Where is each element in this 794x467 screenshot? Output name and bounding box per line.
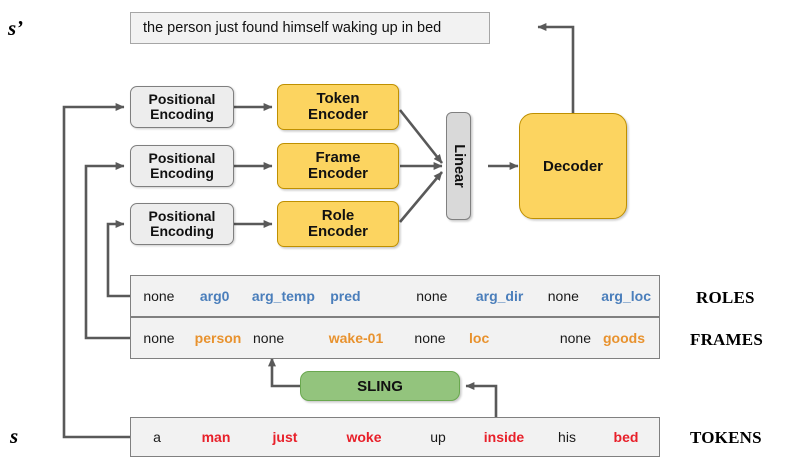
roles-cell-2: arg_temp xyxy=(243,288,325,304)
output-sentence-box: the person just found himself waking up … xyxy=(130,12,490,44)
frames-cell-6: none xyxy=(523,330,591,346)
linear-label: Linear xyxy=(451,144,467,188)
pe-token-line2: Encoding xyxy=(149,107,216,122)
caption-tokens: TOKENS xyxy=(690,428,762,448)
output-sentence-text: the person just found himself waking up … xyxy=(143,20,441,36)
wire-token-encoder-to-linear xyxy=(400,110,442,163)
pe-role-line2: Encoding xyxy=(149,224,216,239)
tokens-cell-7: bed xyxy=(595,429,657,445)
decoder-box[interactable]: Decoder xyxy=(519,113,627,219)
tokens-cell-6: his xyxy=(539,429,595,445)
sling-label: SLING xyxy=(357,378,403,395)
roles-cell-0: none xyxy=(131,288,187,304)
roles-cell-3: pred xyxy=(324,288,398,304)
token-encoder-box[interactable]: Token Encoder xyxy=(277,84,399,130)
pe-frame-line2: Encoding xyxy=(149,166,216,181)
frames-cell-7: goods xyxy=(591,330,657,346)
tokens-cell-1: man xyxy=(183,429,249,445)
pe-token-line1: Positional xyxy=(149,92,216,107)
decoder-label: Decoder xyxy=(543,158,603,175)
tokens-cell-3: woke xyxy=(321,429,407,445)
frame-encoder-line2: Encoder xyxy=(308,166,368,182)
frames-row: none person none wake-01 none loc none g… xyxy=(130,317,660,359)
roles-cell-5: arg_dir xyxy=(466,288,534,304)
tokens-cell-4: up xyxy=(407,429,469,445)
pe-frame-line1: Positional xyxy=(149,151,216,166)
tokens-cell-5: inside xyxy=(469,429,539,445)
frame-encoder-line1: Frame xyxy=(308,150,368,166)
sling-parser-box[interactable]: SLING xyxy=(300,371,460,401)
wire-roles-to-pe3 xyxy=(108,224,130,296)
token-encoder-line2: Encoder xyxy=(308,107,368,123)
output-sentence-marker: s’ xyxy=(8,16,23,41)
wire-tokens-to-pe1 xyxy=(64,107,130,437)
frames-cell-3: wake-01 xyxy=(313,330,399,346)
input-sentence-marker: s xyxy=(10,424,18,449)
positional-encoding-box-role[interactable]: Positional Encoding xyxy=(130,203,234,245)
frames-cell-0: none xyxy=(131,330,187,346)
architecture-diagram: s’ s the person just found himself wakin… xyxy=(0,0,794,467)
positional-encoding-box-frame[interactable]: Positional Encoding xyxy=(130,145,234,187)
frame-encoder-box[interactable]: Frame Encoder xyxy=(277,143,399,189)
wire-frames-to-pe2 xyxy=(86,166,130,338)
wire-tokens-to-sling xyxy=(466,386,496,418)
wire-decoder-to-output xyxy=(538,27,573,118)
tokens-row: a man just woke up inside his bed xyxy=(130,417,660,457)
caption-frames: FRAMES xyxy=(690,330,763,350)
role-encoder-line2: Encoder xyxy=(308,224,368,240)
caption-roles: ROLES xyxy=(696,288,755,308)
frames-cell-4: none xyxy=(399,330,461,346)
positional-encoding-box-token[interactable]: Positional Encoding xyxy=(130,86,234,128)
pe-role-line1: Positional xyxy=(149,209,216,224)
role-encoder-box[interactable]: Role Encoder xyxy=(277,201,399,247)
roles-cell-7: arg_loc xyxy=(593,288,659,304)
wire-role-encoder-to-linear xyxy=(400,172,442,222)
tokens-cell-0: a xyxy=(131,429,183,445)
frames-cell-2: none xyxy=(249,330,313,346)
token-encoder-line1: Token xyxy=(308,91,368,107)
roles-row: none arg0 arg_temp pred none arg_dir non… xyxy=(130,275,660,317)
frames-cell-1: person xyxy=(187,330,249,346)
roles-cell-1: arg0 xyxy=(187,288,243,304)
roles-cell-4: none xyxy=(398,288,466,304)
role-encoder-line1: Role xyxy=(308,208,368,224)
roles-cell-6: none xyxy=(533,288,593,304)
frames-cell-5: loc xyxy=(461,330,523,346)
tokens-cell-2: just xyxy=(249,429,321,445)
linear-layer-box[interactable]: Linear xyxy=(446,112,471,220)
